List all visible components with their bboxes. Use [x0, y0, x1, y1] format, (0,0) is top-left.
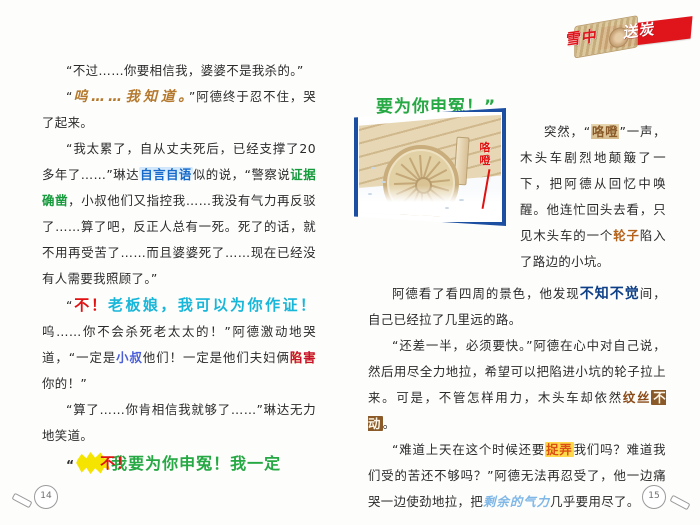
paragraph-r1: 突然，“咯噔”一声，木头车剧烈地颠簸了一下，把阿德从回忆中唤醒。他连忙回头去看，…	[520, 119, 666, 275]
logo-text-part1: 雪中	[566, 27, 599, 49]
paragraph-3: “我太累了，自从丈夫死后，已经支撑了20多年了……”琳达自言自语似的说，“警察说…	[42, 136, 316, 292]
exclaim-bu-red: 不！	[73, 296, 108, 314]
paragraph-r2-lead: 阿德看了看四周的景色，他发现	[392, 286, 580, 301]
dialogue-cyan: 老板娘，我可以为你作证！	[108, 296, 316, 314]
starburst-label: 不！	[76, 453, 110, 473]
paragraph-1: “不过……你要相信我，婆婆不是我杀的。”	[42, 58, 316, 84]
illustration-canvas: 咯噔	[359, 115, 501, 219]
logo-text: 雪中送炭	[565, 13, 691, 50]
paragraph-3-mid: 似的说，“警察说	[193, 167, 290, 182]
paragraph-r3-tail: 。	[383, 416, 396, 431]
right-text-top: 突然，“咯噔”一声，木头车剧烈地颠簸了一下，把阿德从回忆中唤醒。他连忙回头去看，…	[520, 119, 666, 275]
paragraph-4: “不！老板娘，我可以为你作证！呜……你不会杀死老太太的！”阿德激动地哭道，“一定…	[42, 292, 316, 397]
page-number-left: 14	[10, 485, 64, 511]
paragraph-2: “呜……我知道。”阿德终于忍不住，哭了起来。	[42, 84, 316, 136]
keyword-lunzi: 轮子	[613, 228, 640, 243]
logo-red-banner	[599, 16, 692, 50]
illustration-cart-wheel: 咯噔	[354, 108, 506, 226]
paragraph-r3: “还差一半，必须要快。”阿德在心中对自己说，然后用尽全力地拉，希望可以把陷进小坑…	[368, 333, 666, 437]
quote-open: “	[66, 89, 73, 104]
magnifier-handle-icon-right	[670, 495, 691, 511]
paragraph-r4-lead: “难道上天在这个时候还要	[392, 442, 545, 457]
book-title-logo: 雪中送炭	[564, 10, 693, 59]
keyword-xiaoshu: 小叔	[116, 350, 143, 365]
right-text-bottom: 阿德看了看四周的景色，他发现不知不觉间，自己已经拉了几里远的路。 “还差一半，必…	[368, 281, 666, 515]
paragraph-5: “算了……你肯相信我就够了……”琳达无力地笑道。	[42, 397, 316, 449]
page-number-right: 15	[636, 485, 690, 511]
dialogue-green: 我要为你申冤！我一定	[111, 454, 281, 473]
book-spread: “不过……你要相信我，婆婆不是我杀的。” “呜……我知道。”阿德终于忍不住，哭了…	[0, 0, 700, 525]
paragraph-r3-lead: “还差一半，必须要快。”阿德在心中对自己说，然后用尽全力地拉，希望可以把陷进小坑…	[368, 338, 666, 405]
paragraph-r1-mid: ”一声，木头车剧烈地颠簸了一下，把阿德从回忆中唤醒。他连忙回头去看，只见木头车的…	[520, 124, 666, 243]
page-number-left-value: 14	[34, 485, 58, 509]
sound-effect-inline: 咯噔	[591, 124, 620, 139]
handwritten-phrase-wuwozhidao: 呜……我知道。	[73, 89, 189, 105]
paragraph-4-mid2: 他们！一定是他们夫妇俩	[143, 350, 290, 365]
keyword-ziyanziyu: 自言自语	[139, 167, 193, 182]
paragraph-r1-lead: 突然，“	[544, 124, 591, 139]
starburst-bu: 不！	[76, 453, 110, 473]
paragraph-r4: “难道上天在这个时候还要捉弄我们吗？难道我们受的苦还不够吗？”阿德无法再忍受了，…	[368, 437, 666, 515]
sound-effect-label: 咯噔	[478, 141, 492, 167]
logo-cart-icon	[574, 15, 638, 58]
keyword-wensi: 纹丝	[623, 390, 651, 405]
quote-open-3: “	[66, 457, 75, 472]
page-number-right-value: 15	[642, 485, 666, 509]
magnifier-handle-icon	[12, 493, 33, 509]
left-page: “不过……你要相信我，婆婆不是我杀的。” “呜……我知道。”阿德终于忍不住，哭了…	[0, 0, 350, 525]
keyword-buzhibujue: 不知不觉	[580, 286, 640, 302]
paragraph-r2: 阿德看了看四周的景色，他发现不知不觉间，自己已经拉了几里远的路。	[368, 281, 666, 333]
paragraph-4-tail: 你的！”	[42, 376, 87, 391]
paragraph-6: “不！我要为你申冤！我一定	[42, 449, 316, 480]
handwritten-shengyudeqili: 剩余的气力	[483, 494, 550, 509]
keyword-zhuonong: 捉弄	[545, 442, 574, 457]
paragraph-3-tail: ，小叔他们又指控我……我没有气力再反驳了……算了吧，反正人总有一死。死了的话，就…	[42, 193, 316, 286]
quote-open-2: “	[66, 298, 73, 313]
logo-text-part2: 送炭	[623, 20, 656, 42]
paragraph-r4-tail: 几乎要用尽了。	[550, 494, 640, 509]
keyword-xianhai: 陷害	[290, 350, 316, 365]
right-page: 雪中送炭 要为你申冤！”	[350, 0, 700, 525]
